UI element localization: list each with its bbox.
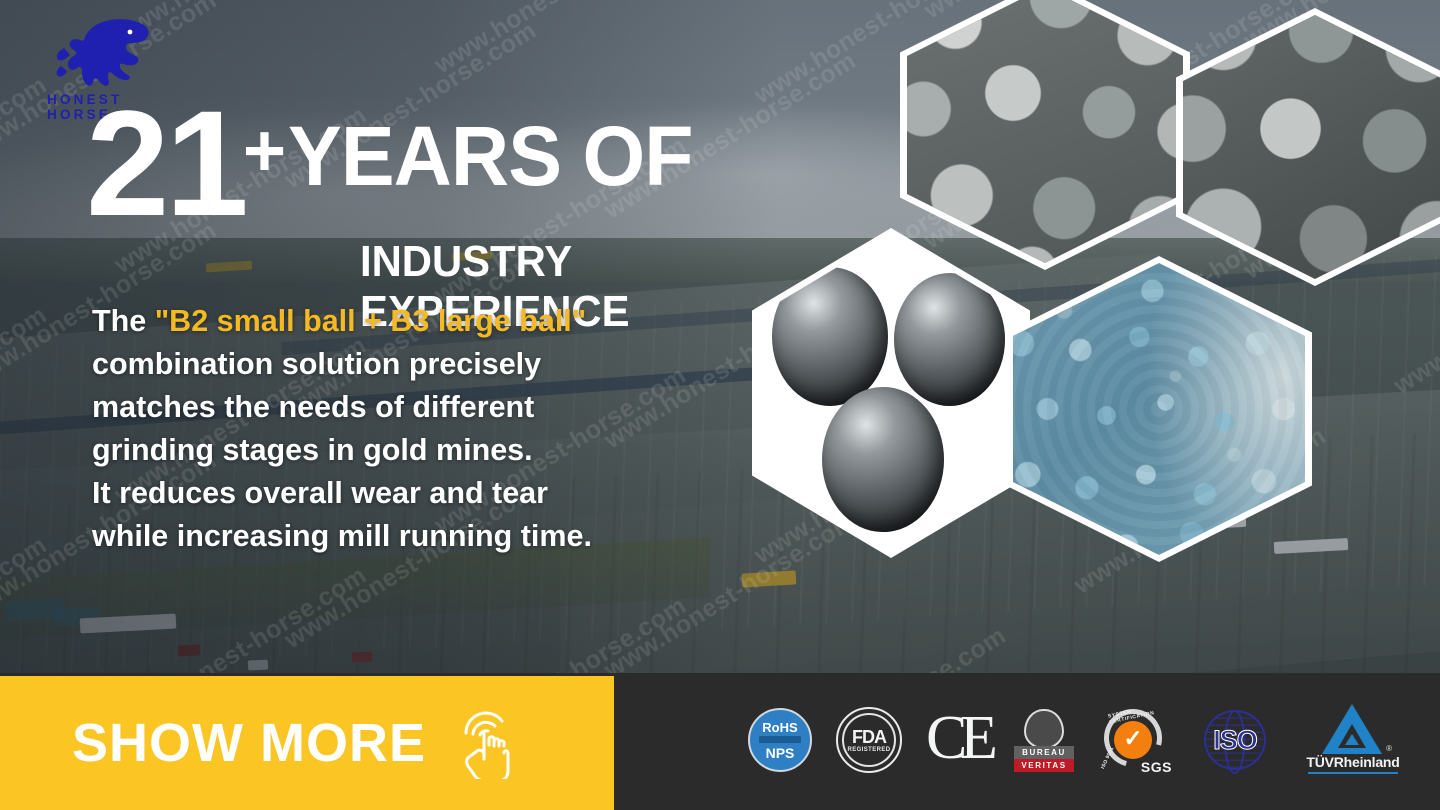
badge-iso: ISO [1196, 710, 1274, 770]
badge-ce: C E [926, 705, 990, 775]
body-line-5: It reduces overall wear and tear [92, 472, 732, 515]
years-plus-sign: + [243, 114, 284, 188]
hexagon-blue-small-balls [1006, 256, 1312, 562]
tuv-underline [1308, 772, 1398, 774]
body-line-1: The "B2 small ball + B3 large ball" [92, 300, 732, 343]
badge-fda: FDA REGISTERED [836, 705, 902, 775]
badge-rohs: RoHS NPS [748, 705, 812, 775]
ce-letter-e: E [960, 712, 990, 768]
bureau-veritas-seal-icon [1024, 709, 1064, 749]
badge-sgs: SYSTEM CERTIFICATION ISO 9001 ✓ SGS [1098, 705, 1172, 775]
tuv-registered-mark: ® [1386, 744, 1392, 753]
badge-tuv-rheinland: ® TÜVRheinland [1298, 705, 1408, 775]
body-line-1-prefix: The [92, 304, 155, 338]
fda-label: FDA [852, 728, 886, 746]
body-line-3: matches the needs of different [92, 386, 732, 429]
tap-hand-icon [456, 707, 524, 779]
tuv-label: TÜVRheinland [1298, 754, 1408, 770]
body-highlight-phrase: "B2 small ball + B3 large ball" [155, 304, 587, 338]
body-line-4: grinding stages in gold mines. [92, 429, 732, 472]
grinding-ball-large-3 [822, 387, 943, 532]
hexagon-three-large-balls [752, 228, 1030, 558]
promo-banner: www.honest-horse.comwww.honest-horse.com… [0, 0, 1440, 810]
iso-label: ISO [1213, 725, 1257, 756]
bureau-label: BUREAU [1014, 746, 1074, 759]
tuv-triangle-core-icon [1345, 734, 1359, 745]
body-copy: The "B2 small ball + B3 large ball" comb… [92, 300, 732, 558]
hexagon-dark-grinding-balls [1176, 8, 1440, 286]
body-line-2: combination solution precisely [92, 343, 732, 386]
grinding-ball-large-2 [894, 273, 1005, 406]
rohs-divider [759, 736, 801, 743]
rohs-label: RoHS [762, 721, 797, 734]
body-line-6: while increasing mill running time. [92, 515, 732, 558]
nps-label: NPS [766, 746, 795, 760]
certification-badges: RoHS NPS FDA REGISTERED C E BUREAU VERIT… [748, 697, 1408, 783]
sgs-check-icon: ✓ [1114, 721, 1152, 759]
headline-years-of: YEARS OF [288, 114, 693, 198]
grinding-ball-large-1 [772, 267, 888, 406]
sgs-label: SGS [1141, 759, 1172, 775]
veritas-label: VERITAS [1014, 759, 1074, 772]
show-more-button[interactable]: SHOW MORE [0, 676, 614, 810]
ce-letter-c: C [926, 712, 956, 768]
show-more-label: SHOW MORE [72, 712, 426, 774]
badge-bureau-veritas: BUREAU VERITAS [1014, 705, 1074, 775]
fda-registered-label: REGISTERED [847, 747, 890, 753]
years-number: 21 [86, 96, 245, 231]
